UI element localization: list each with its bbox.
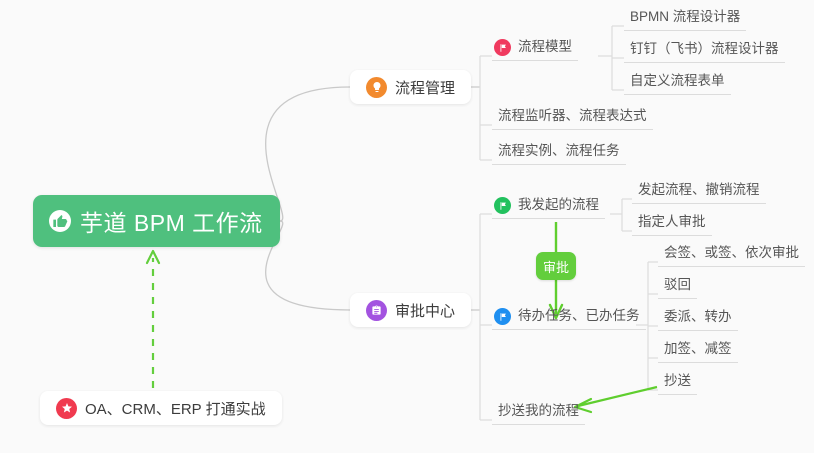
branch-label-approval-center: 审批中心	[395, 300, 455, 321]
leaf-bpmn-designer[interactable]: BPMN 流程设计器	[624, 8, 746, 31]
leaf-label: 抄送我的流程	[498, 402, 579, 420]
leaf-start-cancel-process[interactable]: 发起流程、撤销流程	[632, 181, 766, 204]
root-label: 芋道 BPM 工作流	[80, 204, 263, 238]
leaf-todo-done-tasks[interactable]: 待办任务、已办任务	[492, 307, 646, 330]
leaf-flow-listener-expression[interactable]: 流程监听器、流程表达式	[492, 107, 653, 130]
leaf-custom-form[interactable]: 自定义流程表单	[624, 72, 731, 95]
star-icon	[56, 398, 77, 419]
leaf-reject[interactable]: 驳回	[658, 276, 697, 299]
leaf-label: 自定义流程表单	[630, 72, 725, 90]
leaf-dingtalk-designer[interactable]: 钉钉（飞书）流程设计器	[624, 40, 785, 63]
leaf-label: 流程模型	[518, 38, 572, 56]
leaf-label: 加签、减签	[664, 340, 732, 358]
leaf-label: 抄送	[664, 372, 691, 390]
flag-icon	[494, 197, 511, 214]
leaf-label: 会签、或签、依次审批	[664, 244, 799, 262]
leaf-cc[interactable]: 抄送	[658, 372, 697, 395]
thumbs-up-icon	[49, 210, 71, 232]
leaf-my-started-process[interactable]: 我发起的流程	[492, 196, 605, 219]
leaf-assignee-approval[interactable]: 指定人审批	[632, 213, 712, 236]
footnote-node-oa-crm-erp[interactable]: OA、CRM、ERP 打通实战	[40, 391, 282, 425]
leaf-label: 驳回	[664, 276, 691, 294]
approval-badge[interactable]: 审批	[536, 252, 576, 280]
leaf-label: 发起流程、撤销流程	[638, 181, 760, 199]
lightbulb-icon	[366, 77, 387, 98]
leaf-add-remove-sign[interactable]: 加签、减签	[658, 340, 738, 363]
flag-icon	[494, 39, 511, 56]
leaf-countersign[interactable]: 会签、或签、依次审批	[658, 244, 805, 267]
footnote-label: OA、CRM、ERP 打通实战	[85, 398, 266, 419]
leaf-label: 钉钉（飞书）流程设计器	[630, 40, 779, 58]
leaf-label: 委派、转办	[664, 308, 732, 326]
branch-node-approval-center[interactable]: 审批中心	[350, 293, 471, 327]
flag-icon	[494, 308, 511, 325]
mindmap-canvas: 芋道 BPM 工作流 流程管理 流程模型 BPMN 流程设计器 钉钉（飞书）流程…	[0, 0, 814, 453]
leaf-flow-instance-task[interactable]: 流程实例、流程任务	[492, 142, 626, 165]
arrow-cc-shaft	[578, 387, 657, 406]
leaf-label: 指定人审批	[638, 213, 706, 231]
leaf-label: 流程实例、流程任务	[498, 142, 620, 160]
leaf-label: 我发起的流程	[518, 196, 599, 214]
branch-label-flow-management: 流程管理	[395, 77, 455, 98]
leaf-label: 待办任务、已办任务	[518, 307, 640, 325]
leaf-cc-to-me-process[interactable]: 抄送我的流程	[492, 402, 585, 425]
leaf-label: BPMN 流程设计器	[630, 8, 740, 26]
clipboard-icon	[366, 300, 387, 321]
leaf-delegate-transfer[interactable]: 委派、转办	[658, 308, 738, 331]
root-node[interactable]: 芋道 BPM 工作流	[33, 195, 280, 247]
dashed-arrow-head-up	[147, 251, 159, 263]
leaf-flow-model[interactable]: 流程模型	[492, 38, 578, 61]
branch-node-flow-management[interactable]: 流程管理	[350, 70, 471, 104]
approval-badge-label: 审批	[543, 257, 569, 276]
leaf-label: 流程监听器、流程表达式	[498, 107, 647, 125]
